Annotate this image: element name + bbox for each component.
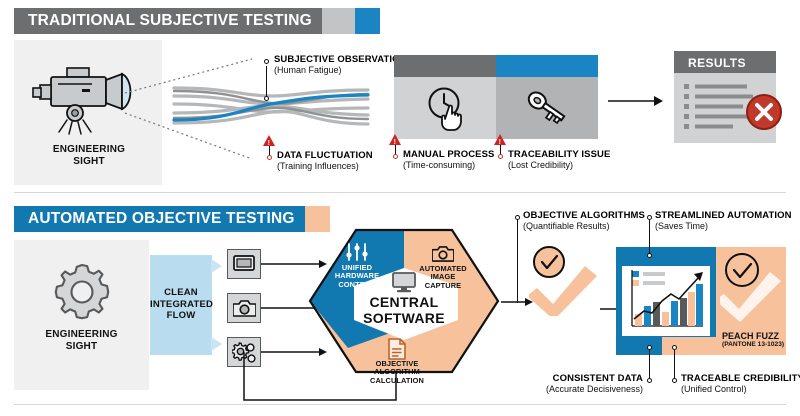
chart-card-footer-blue — [616, 337, 662, 355]
clean-integrated-flow-label: CLEAN INTEGRATED FLOW — [150, 287, 212, 322]
callout-dot-manual-process — [393, 154, 398, 159]
flow-label-line1: CLEAN — [150, 287, 212, 299]
central-software-line1: CENTRAL — [352, 294, 456, 310]
hex-segment-objective-algorithm-calculation: OBJECTIVE ALGORITHM CALCULATION — [360, 360, 434, 385]
x-mark-icon — [744, 92, 784, 132]
top-header-gray-segment — [322, 8, 355, 34]
key-icon — [524, 86, 572, 130]
central-software-label: CENTRAL SOFTWARE — [352, 294, 456, 326]
gear-icon — [52, 262, 112, 322]
bottom-header-title: AUTOMATED OBJECTIVE TESTING — [28, 210, 295, 228]
peach-fuzz-name: PEACH FUZZ — [722, 331, 784, 341]
callout-title-objective-algorithms: OBJECTIVE ALGORITHMS — [523, 210, 645, 221]
document-icon — [388, 338, 406, 360]
callout-dot-data-fluctuation — [267, 155, 272, 160]
callout-traceable-credibility: TRACEABLE CREDIBILITY (Unified Control) — [681, 373, 800, 395]
callout-dot-traceable-credibility — [672, 378, 677, 383]
top-header-bar: TRADITIONAL SUBJECTIVE TESTING — [14, 8, 322, 34]
flow-label-line3: FLOW — [150, 310, 212, 322]
results-card-title: RESULTS — [688, 56, 746, 70]
hex-segment-unified-hardware-control: UNIFIED HARDWARE CONTROL — [326, 264, 388, 289]
input-box-camera[interactable] — [227, 293, 261, 323]
callout-traceability-issue: TRACEABILITY ISSUE (Lost Credibility) — [508, 149, 610, 171]
panel-header-traceability-issue — [496, 55, 598, 77]
callout-dot-traceability-issue — [498, 154, 503, 159]
callout-leader-subjective-observation — [266, 66, 267, 98]
hex-label-objective-line3: CALCULATION — [360, 377, 434, 385]
input-box-monitor[interactable] — [227, 249, 261, 279]
chart-legend-swatch-peach — [632, 280, 639, 286]
callout-objective-algorithms: OBJECTIVE ALGORITHMS (Quantifiable Resul… — [523, 210, 645, 232]
callout-leader-traceable-credibility — [674, 350, 675, 380]
callout-leader-objective-algorithms — [517, 220, 518, 303]
hex-label-unified-line3: CONTROL — [326, 281, 388, 289]
engineering-sight-caption-bottom-line1: ENGINEERING — [24, 329, 139, 341]
callout-endpoint-streamlined-automation — [647, 253, 652, 258]
callout-consistent-data: CONSISTENT DATA (Accurate Decisiveness) — [519, 373, 643, 395]
clock-hand-icon — [425, 85, 473, 131]
callout-title-manual-process: MANUAL PROCESS — [403, 149, 494, 160]
top-header-title: TRADITIONAL SUBJECTIVE TESTING — [28, 12, 312, 30]
callout-endpoint-subjective-observation — [264, 96, 269, 101]
callout-data-fluctuation: DATA FLUCTUATION (Training Influences) — [277, 150, 373, 172]
callout-title-subjective-observation: SUBJECTIVE OBSERVATION — [274, 54, 407, 65]
bottom-header-bar: AUTOMATED OBJECTIVE TESTING — [14, 206, 305, 232]
top-header-blue-segment — [355, 8, 380, 34]
flow-label-line2: INTEGRATED — [150, 299, 212, 311]
peach-fuzz-code: (PANTONE 13-1023) — [722, 341, 784, 349]
flow-arrow-tabs — [211, 255, 225, 355]
panel-header-manual-process — [394, 55, 496, 77]
section-divider — [14, 192, 786, 193]
callout-streamlined-automation: STREAMLINED AUTOMATION (Saves Time) — [655, 210, 792, 232]
callout-subtitle-consistent-data: (Accurate Decisiveness) — [519, 384, 643, 395]
callout-dot-consistent-data — [647, 378, 652, 383]
bottom-section-header: AUTOMATED OBJECTIVE TESTING — [14, 206, 330, 232]
engineering-sight-caption-bottom-line2: SIGHT — [24, 341, 139, 353]
central-software-line2: SOFTWARE — [352, 310, 456, 326]
arrow-to-results — [608, 94, 664, 108]
callout-subtitle-data-fluctuation: (Training Influences) — [277, 161, 373, 172]
hex-center-monitor-icon — [392, 272, 416, 293]
sliders-icon — [344, 242, 370, 262]
callout-subtitle-traceable-credibility: (Unified Control) — [681, 384, 800, 395]
callout-title-streamlined-automation: STREAMLINED AUTOMATION — [655, 210, 792, 221]
engineering-sight-caption-bottom: ENGINEERING SIGHT — [24, 329, 139, 353]
streamlined-automation-check — [720, 250, 784, 322]
callout-title-consistent-data: CONSISTENT DATA — [519, 373, 643, 384]
callout-leader-streamlined-automation — [649, 220, 650, 255]
objective-algorithms-check — [529, 244, 611, 316]
callout-title-data-fluctuation: DATA FLUCTUATION — [277, 150, 373, 161]
data-fluctuation-lines — [172, 82, 370, 134]
top-section-header: TRADITIONAL SUBJECTIVE TESTING — [14, 8, 380, 34]
bar-line-chart — [624, 268, 708, 334]
callout-subtitle-subjective-observation: (Human Fatigue) — [274, 65, 407, 76]
hex-segment-automated-image-capture: AUTOMATED IMAGE CAPTURE — [412, 265, 474, 290]
callout-title-traceable-credibility: TRACEABLE CREDIBILITY — [681, 373, 800, 384]
peach-fuzz-swatch-label: PEACH FUZZ (PANTONE 13-1023) — [722, 331, 784, 349]
callout-title-traceability-issue: TRACEABILITY ISSUE — [508, 149, 610, 160]
monitor-icon — [233, 255, 255, 273]
footer-divider — [14, 404, 786, 405]
callout-subtitle-manual-process: (Time-consuming) — [403, 160, 494, 171]
callout-subjective-observation: SUBJECTIVE OBSERVATION (Human Fatigue) — [274, 54, 407, 76]
chart-card-footer-peach — [662, 337, 716, 355]
callout-subtitle-traceability-issue: (Lost Credibility) — [508, 160, 610, 171]
hex-camera-icon — [432, 245, 454, 263]
callout-dot-subjective-observation — [264, 59, 269, 64]
callout-subtitle-streamlined-automation: (Saves Time) — [655, 221, 792, 232]
callout-subtitle-objective-algorithms: (Quantifiable Results) — [523, 221, 645, 232]
callout-leader-consistent-data — [649, 350, 650, 380]
callout-manual-process: MANUAL PROCESS (Time-consuming) — [403, 149, 494, 171]
hex-label-automated-line3: CAPTURE — [412, 282, 474, 290]
camera-icon — [233, 299, 256, 318]
chart-legend-swatch-blue — [632, 271, 639, 277]
